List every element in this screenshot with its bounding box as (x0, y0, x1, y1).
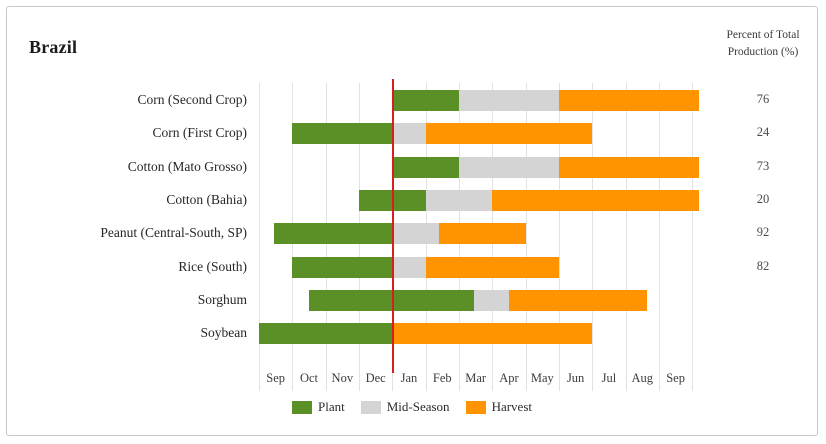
axis-tick-label: Jul (592, 365, 625, 391)
axis-tick-label: Apr (492, 365, 525, 391)
row-label-rice-south: Rice (South) (178, 250, 247, 283)
x-axis: SepOctNovDecJanFebMarAprMayJunJulAugSep (259, 365, 699, 391)
legend-swatch-icon (292, 401, 312, 414)
bar-segment-plant (392, 157, 459, 178)
percent-column-header: Percent of Total Production (%) (707, 27, 819, 61)
legend-item-mid-season[interactable]: Mid-Season (361, 399, 450, 415)
chart-row: Corn (Second Crop)76 (259, 83, 699, 116)
row-label-corn-first-crop: Corn (First Crop) (153, 116, 248, 149)
chart-plot-area: Corn (Second Crop)76Corn (First Crop)24C… (259, 83, 699, 365)
bar-segment-mid-season (392, 257, 425, 278)
bar-segment-mid-season (474, 290, 509, 311)
bar-segment-mid-season (392, 123, 425, 144)
chart-row: Soybean (259, 316, 699, 349)
legend-item-plant[interactable]: Plant (292, 399, 345, 415)
bar-segment-mid-season (392, 223, 439, 244)
axis-tick-label: Sep (259, 365, 292, 391)
bar-segment-harvest (492, 190, 699, 211)
chart-row: Corn (First Crop)24 (259, 116, 699, 149)
axis-tick-label: Feb (426, 365, 459, 391)
chart-row: Sorghum (259, 283, 699, 316)
percent-header-line-1: Percent of Total (707, 27, 819, 44)
percent-value: 76 (707, 83, 819, 116)
row-label-peanut-central-south-sp: Peanut (Central-South, SP) (100, 216, 247, 249)
chart-row: Cotton (Mato Grosso)73 (259, 150, 699, 183)
percent-value: 24 (707, 116, 819, 149)
chart-row: Rice (South)82 (259, 250, 699, 283)
percent-value: 82 (707, 250, 819, 283)
legend-swatch-icon (361, 401, 381, 414)
axis-tick-label: Jun (559, 365, 592, 391)
axis-tick-label: Dec (359, 365, 392, 391)
bar-segment-mid-season (426, 190, 493, 211)
bar-segment-mid-season (459, 90, 559, 111)
bar-segment-plant (292, 123, 392, 144)
axis-tick-label: Oct (292, 365, 325, 391)
bar-segment-plant (274, 223, 392, 244)
legend-swatch-icon (466, 401, 486, 414)
screenshot-root: Brazil Percent of Total Production (%) C… (0, 0, 826, 444)
percent-value: 73 (707, 150, 819, 183)
axis-tick-label: May (526, 365, 559, 391)
axis-tick-label: Jan (392, 365, 425, 391)
axis-tick-label: Nov (326, 365, 359, 391)
row-label-soybean: Soybean (201, 316, 248, 349)
row-label-cotton-bahia: Cotton (Bahia) (166, 183, 247, 216)
row-label-cotton-mato-grosso: Cotton (Mato Grosso) (128, 150, 247, 183)
bar-segment-plant (292, 257, 392, 278)
legend-label: Plant (318, 399, 345, 415)
bar-segment-harvest (392, 323, 592, 344)
bar-segment-plant (259, 323, 392, 344)
percent-value: 20 (707, 183, 819, 216)
legend-label: Harvest (492, 399, 532, 415)
bar-segment-harvest (559, 157, 699, 178)
bar-segment-harvest (439, 223, 526, 244)
percent-value: 92 (707, 216, 819, 249)
bar-segment-harvest (426, 257, 559, 278)
row-label-corn-second-crop: Corn (Second Crop) (138, 83, 247, 116)
legend-label: Mid-Season (387, 399, 450, 415)
chart-card: Brazil Percent of Total Production (%) C… (6, 6, 818, 436)
percent-header-line-2: Production (%) (707, 44, 819, 61)
row-label-sorghum: Sorghum (198, 283, 247, 316)
bar-segment-harvest (426, 123, 593, 144)
chart-row: Cotton (Bahia)20 (259, 183, 699, 216)
page-title: Brazil (29, 37, 77, 58)
bar-segment-harvest (509, 290, 647, 311)
axis-tick-label: Sep (659, 365, 692, 391)
axis-tick-label: Mar (459, 365, 492, 391)
bar-segment-mid-season (459, 157, 559, 178)
chart-legend: PlantMid-SeasonHarvest (7, 399, 817, 415)
bar-segment-plant (392, 90, 459, 111)
today-marker-line (392, 79, 394, 373)
axis-tick-line (692, 365, 693, 391)
legend-item-harvest[interactable]: Harvest (466, 399, 532, 415)
bar-segment-harvest (559, 90, 699, 111)
chart-row: Peanut (Central-South, SP)92 (259, 216, 699, 249)
axis-tick-label: Aug (626, 365, 659, 391)
